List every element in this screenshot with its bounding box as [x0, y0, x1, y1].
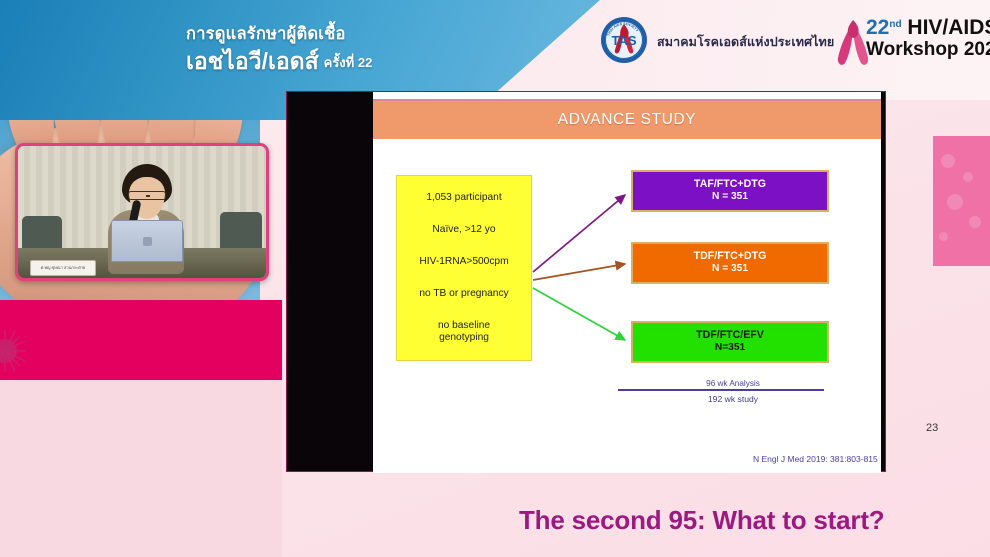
analysis-rule — [618, 389, 824, 391]
event-title-line2: เอชไอวี/เอดส์ครั้งที่ 22 — [186, 47, 372, 77]
criteria-line-5b: genotyping — [439, 332, 489, 343]
arm-2-regimen: TDF/FTC+DTG — [694, 250, 767, 263]
event-title-edition: ครั้งที่ 22 — [324, 55, 373, 70]
event-title-main: เอชไอวี/เอดส์ — [186, 48, 319, 74]
slide-header-bar: ADVANCE STUDY — [373, 99, 881, 139]
workshop-title-line2: Workshop 2023 — [866, 40, 990, 60]
slide-title: ADVANCE STUDY — [558, 111, 696, 129]
laptop-icon — [111, 220, 183, 262]
association-name: สมาคมโรคเอดส์แห่งประเทศไทย — [657, 32, 834, 52]
magenta-band — [0, 300, 282, 380]
criteria-line-5a: no baseline — [438, 320, 490, 331]
arm-1-n: N = 351 — [712, 191, 748, 204]
decorative-pink-block — [933, 136, 990, 266]
slide-citation: N Engl J Med 2019: 381:803-815 — [753, 454, 878, 464]
treatment-arm-2: TDF/FTC+DTG N = 351 — [631, 242, 829, 284]
workshop-name: HIV/AIDS — [907, 16, 990, 39]
slide-canvas: ADVANCE STUDY 1,053 participant Naïve, >… — [373, 92, 881, 473]
virus-particle-icon — [0, 328, 28, 374]
analysis-top-label: 96 wk Analysis — [618, 379, 848, 388]
workshop-title-line1: 22nd HIV/AIDS — [866, 17, 990, 38]
arm-3-n: N=351 — [715, 342, 745, 355]
svg-text:TAS: TAS — [611, 33, 636, 48]
criteria-line-2: Naïve, >12 yo — [432, 224, 495, 236]
inclusion-criteria-box: 1,053 participant Naïve, >12 yo HIV-1RNA… — [396, 175, 532, 361]
eyeglasses-icon — [128, 191, 166, 200]
slide-page-number: 23 — [926, 422, 938, 434]
criteria-line-4: no TB or pregnancy — [419, 288, 508, 300]
arm-3-regimen: TDF/FTC/EFV — [696, 329, 764, 342]
criteria-line-5: no baseline genotyping — [438, 320, 490, 344]
chair-left — [22, 216, 62, 252]
video-feed: ศ.พญ.ชุษณา สวนกระต่าย — [18, 146, 266, 278]
section-title: The second 95: What to start? — [519, 505, 884, 536]
analysis-bottom-label: 192 wk study — [618, 394, 848, 404]
slide-container[interactable]: ADVANCE STUDY 1,053 participant Naïve, >… — [286, 91, 886, 472]
tas-logo-icon: TAS THAI AIDS SOCIETY — [600, 16, 648, 64]
treatment-arm-1: TAF/FTC+DTG N = 351 — [631, 170, 829, 212]
background-lower-left — [0, 380, 282, 557]
workshop-ordinal: nd — [889, 19, 901, 30]
criteria-line-1: 1,053 participant — [426, 192, 501, 204]
event-title-line1: การดูแลรักษาผู้ติดเชื้อ — [186, 24, 372, 45]
speaker-video-panel[interactable]: ศ.พญ.ชุษณา สวนกระต่าย — [15, 143, 269, 281]
arm-1-regimen: TAF/FTC+DTG — [694, 178, 766, 191]
chair-right — [220, 212, 262, 252]
workshop-text: 22nd HIV/AIDS Workshop 2023 — [866, 17, 990, 60]
screen-root: การดูแลรักษาผู้ติดเชื้อ เอชไอวี/เอดส์ครั… — [0, 0, 990, 557]
event-title-thai: การดูแลรักษาผู้ติดเชื้อ เอชไอวี/เอดส์ครั… — [186, 24, 372, 77]
treatment-arm-3: TDF/FTC/EFV N=351 — [631, 321, 829, 363]
workshop-logo: 22nd HIV/AIDS Workshop 2023 — [833, 14, 985, 70]
arm-2-n: N = 351 — [712, 263, 748, 276]
workshop-number: 22 — [866, 16, 889, 39]
criteria-line-3: HIV-1RNA>500cpm — [419, 256, 508, 268]
nameplate: ศ.พญ.ชุษณา สวนกระต่าย — [30, 260, 96, 276]
analysis-timeline: 96 wk Analysis 192 wk study — [618, 379, 848, 404]
